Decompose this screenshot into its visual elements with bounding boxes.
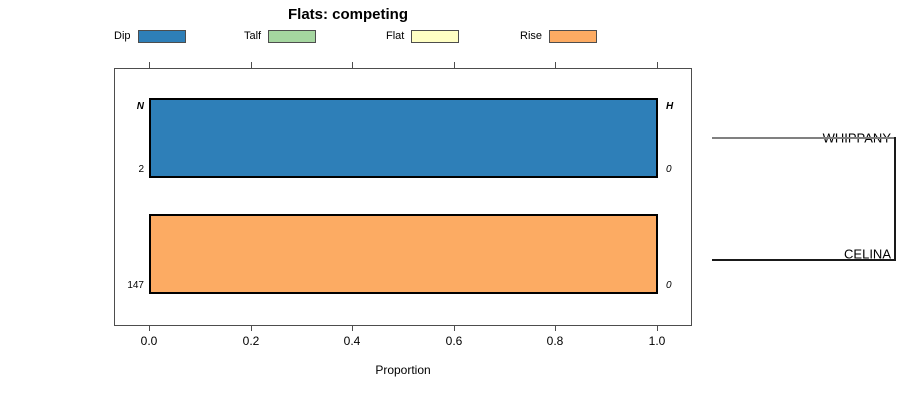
legend-swatch-flat [411,30,459,43]
x-tick-label-2: 0.4 [344,334,361,348]
legend-item-talf[interactable]: Talf [244,27,316,45]
bar-celina-rise[interactable] [149,214,658,294]
annotation-n-whippany: 2 [138,164,144,175]
x-tick-0 [149,326,150,331]
x-tick-label-5: 1.0 [649,334,666,348]
x-tick-top-4 [555,62,556,68]
x-tick-label-1: 0.2 [243,334,260,348]
x-tick-3 [454,326,455,331]
x-tick-top-1 [251,62,252,68]
legend-swatch-talf [268,30,316,43]
annotation-header-n: N [137,101,144,112]
x-tick-label-3: 0.6 [446,334,463,348]
legend-swatch-dip [138,30,186,43]
annotation-n-celina: 147 [127,280,144,291]
x-tick-label-4: 0.8 [547,334,564,348]
dendrogram-branch-celina [712,259,896,261]
legend: Dip Talf Flat Rise [114,27,694,45]
chart-root: Flats: competing Dip Talf Flat Rise 0.0 [0,0,900,400]
annotation-header-h: H [666,101,673,112]
legend-label-rise: Rise [520,30,542,42]
x-tick-4 [555,326,556,331]
chart-title: Flats: competing [0,6,696,23]
annotation-h-whippany: 0 [666,164,672,175]
bar-whippany-dip[interactable] [149,98,658,178]
x-tick-top-2 [352,62,353,68]
dendrogram-merge-link [894,137,896,261]
x-tick-1 [251,326,252,331]
legend-label-dip: Dip [114,30,131,42]
x-tick-top-5 [657,62,658,68]
dendrogram [700,68,900,326]
x-tick-5 [657,326,658,331]
legend-item-dip[interactable]: Dip [114,27,186,45]
x-tick-top-0 [149,62,150,68]
x-tick-2 [352,326,353,331]
legend-label-flat: Flat [386,30,404,42]
legend-swatch-rise [549,30,597,43]
legend-item-flat[interactable]: Flat [386,27,459,45]
x-tick-top-3 [454,62,455,68]
x-axis-title: Proportion [114,363,692,377]
legend-item-rise[interactable]: Rise [520,27,597,45]
dendrogram-branch-whippany [712,137,896,139]
annotation-h-celina: 0 [666,280,672,291]
x-tick-label-0: 0.0 [141,334,158,348]
legend-label-talf: Talf [244,30,261,42]
